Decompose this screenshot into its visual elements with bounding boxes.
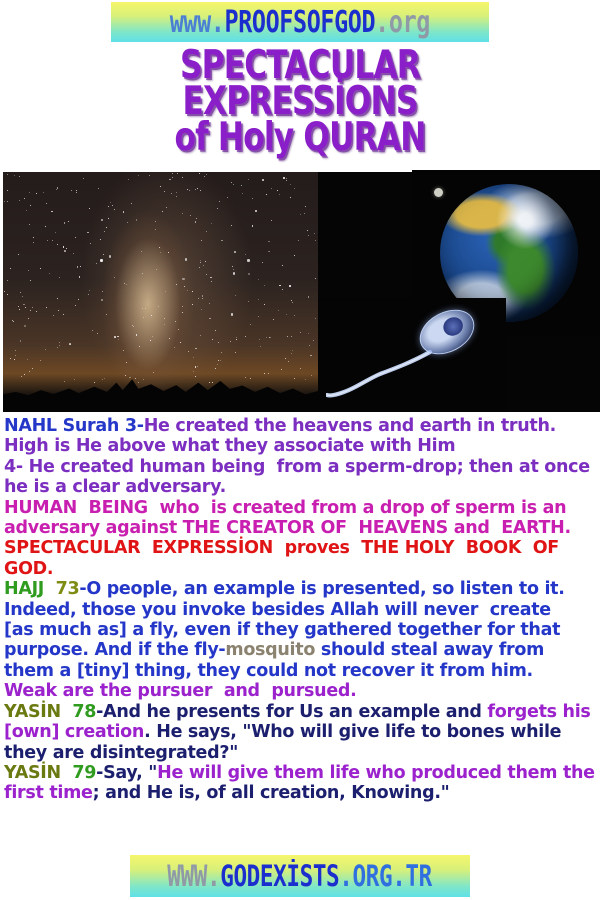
sperm-cell-image (318, 298, 506, 412)
verse-yasin-79-seg-4: ; and He is, of all creation, Knowing." (93, 783, 450, 803)
verse-yasin-78-seg-0: YASİN (4, 702, 67, 722)
verse-hajj-73-seg-5: Weak are the pursuer and pursued. (4, 681, 356, 701)
bottom-url-tld: .ORG.TR (340, 859, 433, 893)
verse-yasin-78: YASİN 78-And he presents for Us an examp… (4, 702, 600, 763)
verse-yasin-78-seg-1: 78 (67, 702, 97, 722)
page-title: SPECTACULAR EXPRESSİONS of Holy QURAN (0, 48, 600, 156)
verse-yasin-78-seg-2: -And he presents for Us an example and (96, 702, 487, 722)
verse-yasin-79-seg-0: YASİN (4, 763, 67, 783)
verse-human-being-seg-0: HUMAN BEING who is created from a drop o… (4, 498, 571, 538)
verse-hajj-73-seg-1: 73 (50, 579, 80, 599)
verse-human-being: HUMAN BEING who is created from a drop o… (4, 498, 600, 539)
verse-nahl-3-seg-0: NAHL Surah 3- (4, 416, 144, 436)
verse-hajj-73: HAJJ 73-O people, an example is presente… (4, 579, 600, 701)
moon-icon (434, 188, 443, 197)
top-url-text: www.PROOFSOFGOD.org (170, 5, 430, 40)
top-url-banner[interactable]: www.PROOFSOFGOD.org (111, 2, 489, 42)
bottom-url-domain: GODEXİSTS (221, 859, 340, 893)
verse-yasin-79-seg-1: 79 (67, 763, 97, 783)
bottom-url-www: WWW. (168, 859, 221, 893)
bottom-url-banner[interactable]: WWW.GODEXİSTS.ORG.TR (130, 855, 470, 897)
verse-yasin-79: YASİN 79-Say, "He will give them life wh… (4, 763, 600, 804)
sperm-tail (326, 322, 434, 398)
top-url-domain: PROOFSOFGOD (225, 5, 376, 40)
verse-nahl-3: NAHL Surah 3-He created the heavens and … (4, 416, 600, 498)
top-url-tld: .org (375, 5, 430, 40)
media-strip (0, 170, 600, 412)
verses-block: NAHL Surah 3-He created the heavens and … (4, 416, 600, 804)
verse-hajj-73-seg-3: mosquito (225, 640, 315, 660)
bottom-url-text: WWW.GODEXİSTS.ORG.TR (168, 859, 433, 893)
verse-yasin-79-seg-2: -Say, " (96, 763, 157, 783)
verse-spectacular-expression-seg-0: SPECTACULAR EXPRESSİON proves THE HOLY B… (4, 538, 571, 578)
milky-way-night-sky-image (3, 172, 318, 412)
verse-nahl-3-seg-2: 4- He created human being from a sperm-d… (4, 457, 590, 497)
star-field (3, 172, 318, 412)
verse-spectacular-expression: SPECTACULAR EXPRESSİON proves THE HOLY B… (4, 538, 600, 579)
page-title-line-2: of Holy QURAN (60, 120, 540, 156)
page-title-line-1: SPECTACULAR EXPRESSİONS (60, 48, 540, 120)
verse-hajj-73-seg-0: HAJJ (4, 579, 50, 599)
top-url-www: www. (170, 5, 225, 40)
